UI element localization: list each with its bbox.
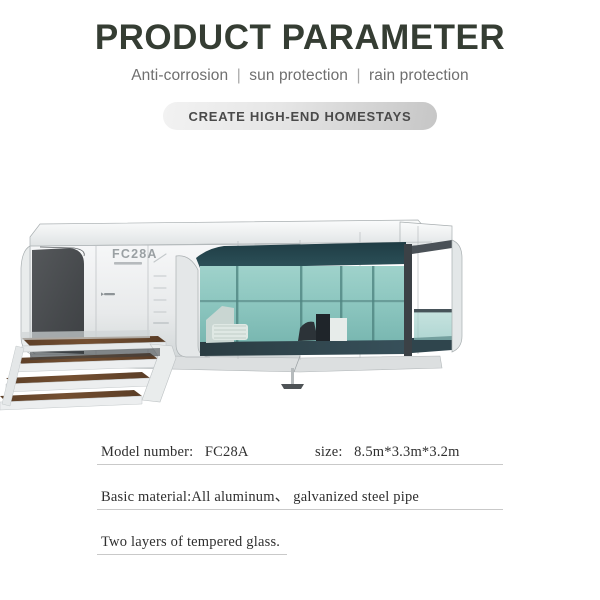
deck-and-stairs xyxy=(0,330,176,410)
spec-model-value: FC28A xyxy=(205,444,249,460)
spec-size-group: size: 8.5m*3.3m*3.2m xyxy=(315,444,460,461)
subtitle-separator-2: | xyxy=(352,67,364,84)
spec-row-glass: Two layers of tempered glass. xyxy=(97,522,503,567)
spec-row-underline xyxy=(97,554,287,555)
spec-glass-text: Two layers of tempered glass. xyxy=(101,534,280,551)
spec-row-underline xyxy=(97,509,503,510)
spec-row-material: Basic material:All aluminum、 galvanized … xyxy=(97,477,503,522)
spec-model-label: Model number: xyxy=(101,444,193,460)
spec-model-group: Model number: FC28A xyxy=(101,444,249,461)
feature-item-rain-protection: rain protection xyxy=(369,67,469,84)
spec-list: Model number: FC28A size: 8.5m*3.3m*3.2m… xyxy=(0,432,600,567)
feature-item-sun-protection: sun protection xyxy=(249,67,348,84)
product-parameter-page: PRODUCT PARAMETER Anti-corrosion | sun p… xyxy=(0,0,600,600)
subtitle-separator-1: | xyxy=(233,67,245,84)
feature-subtitle: Anti-corrosion | sun protection | rain p… xyxy=(0,67,600,85)
product-image-capsule-house: FC28A xyxy=(0,196,600,436)
feature-item-anticorrosion: Anti-corrosion xyxy=(131,67,228,84)
interior-glass-area xyxy=(196,242,406,356)
spec-size-value: 8.5m*3.3m*3.2m xyxy=(354,444,460,460)
spec-material-text: Basic material:All aluminum、 galvanized … xyxy=(101,485,419,506)
spec-row-model-size: Model number: FC28A size: 8.5m*3.3m*3.2m xyxy=(97,432,503,477)
fc28a-badge-text: FC28A xyxy=(112,247,158,261)
spec-size-label: size: xyxy=(315,444,343,460)
balcony-section xyxy=(404,240,462,356)
page-title: PRODUCT PARAMETER xyxy=(0,18,600,58)
spec-row-underline xyxy=(97,464,503,465)
create-homestays-badge[interactable]: CREATE HIGH-END HOMESTAYS xyxy=(163,102,438,130)
page-header: PRODUCT PARAMETER Anti-corrosion | sun p… xyxy=(0,0,600,130)
badge-container: CREATE HIGH-END HOMESTAYS xyxy=(0,102,600,130)
